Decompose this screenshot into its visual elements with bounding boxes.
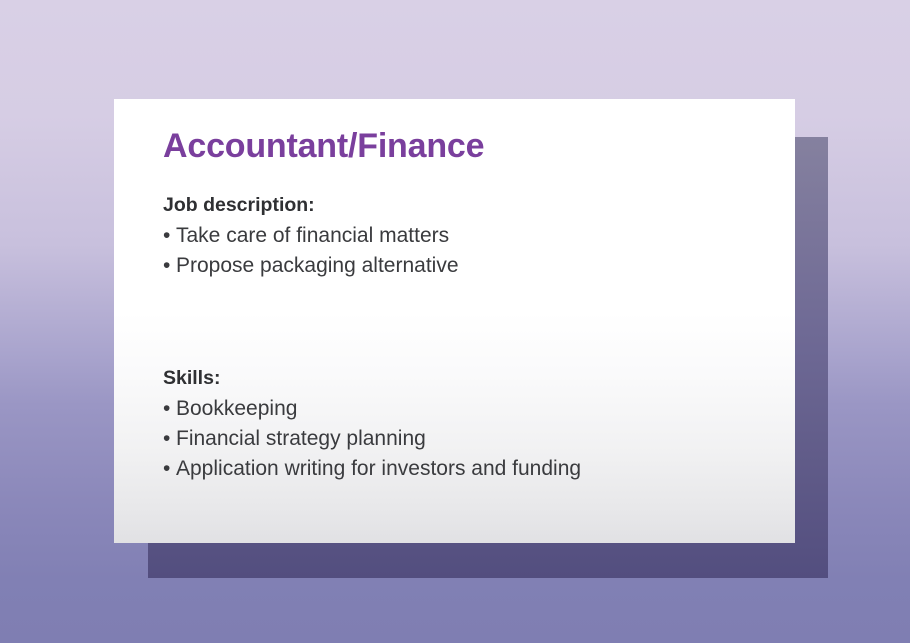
bullet-dot-icon: • [163, 454, 176, 484]
slide-canvas: Accountant/Finance Job description: •Tak… [0, 0, 910, 643]
list-item-label: Take care of financial matters [176, 224, 449, 247]
list-item-label: Propose packaging alternative [176, 254, 459, 277]
bullet-dot-icon: • [163, 251, 176, 281]
bullet-dot-icon: • [163, 424, 176, 454]
section-heading-job-description: Job description: [163, 193, 459, 217]
page-title: Accountant/Finance [163, 127, 484, 166]
section-job-description: Job description: •Take care of financial… [163, 193, 459, 281]
list-item-label: Bookkeeping [176, 397, 297, 420]
list-item: •Financial strategy planning [163, 424, 581, 454]
list-item-label: Application writing for investors and fu… [176, 457, 581, 480]
card-content-area: Accountant/Finance Job description: •Tak… [163, 99, 795, 543]
bullet-dot-icon: • [163, 221, 176, 251]
list-item-label: Financial strategy planning [176, 427, 426, 450]
content-card: Accountant/Finance Job description: •Tak… [114, 99, 795, 543]
list-item: •Take care of financial matters [163, 221, 459, 251]
list-item: •Bookkeeping [163, 394, 581, 424]
list-item: •Propose packaging alternative [163, 251, 459, 281]
section-skills: Skills: •Bookkeeping •Financial strategy… [163, 366, 581, 484]
bullet-list-job-description: •Take care of financial matters •Propose… [163, 221, 459, 281]
section-heading-skills: Skills: [163, 366, 581, 390]
list-item: •Application writing for investors and f… [163, 454, 581, 484]
bullet-dot-icon: • [163, 394, 176, 424]
bullet-list-skills: •Bookkeeping •Financial strategy plannin… [163, 394, 581, 484]
